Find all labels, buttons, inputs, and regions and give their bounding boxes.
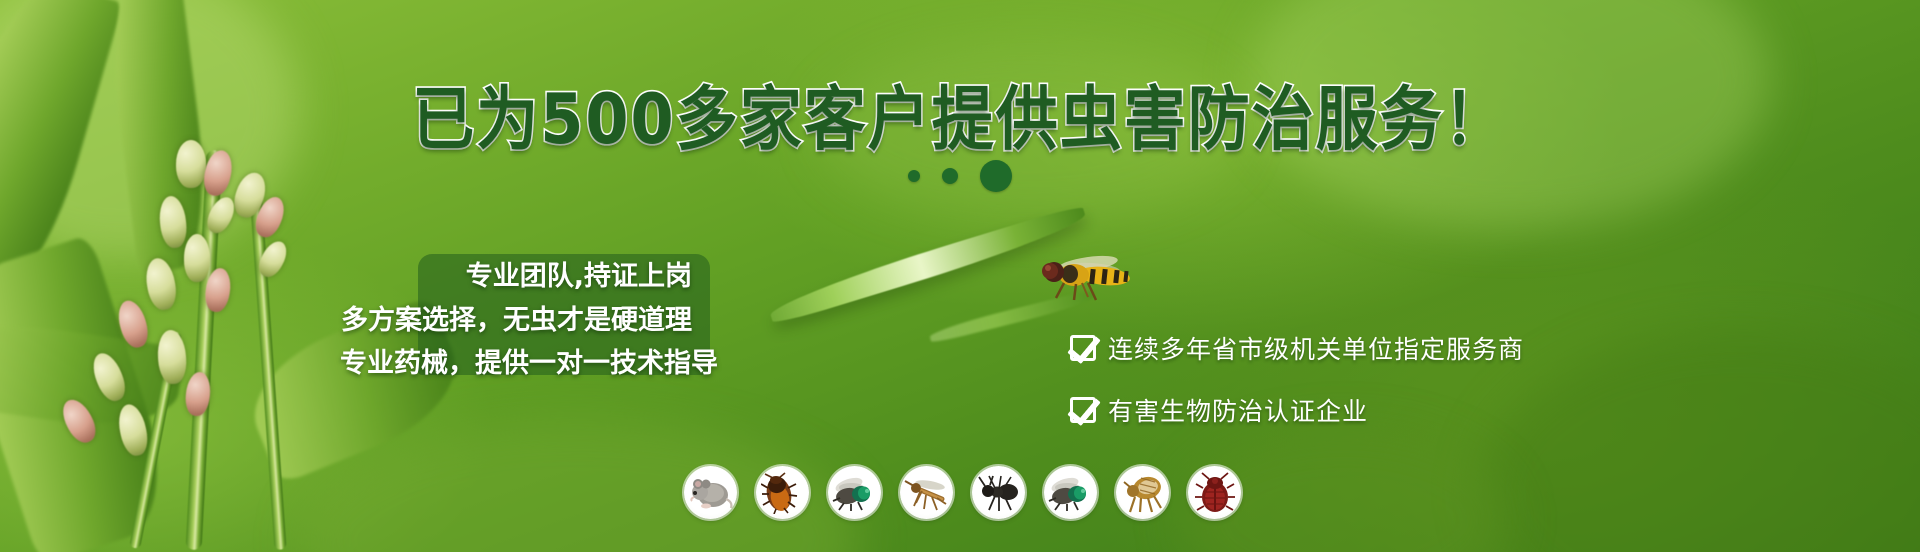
checklist-item-label: 有害生物防治认证企业	[1108, 392, 1368, 428]
slogan-line-1: 专业团队,持证上岗	[340, 258, 720, 296]
ant-icon[interactable]	[972, 466, 1025, 519]
check-box-icon	[1070, 397, 1096, 423]
banner-headline: 已为500多家客户提供虫害防治服务！	[0, 68, 1920, 158]
promo-banner: 已为500多家客户提供虫害防治服务！ 专业团队,持证上岗 多方案选择，无虫才是硬…	[0, 0, 1920, 552]
hoverfly-image	[1030, 250, 1150, 306]
check-box-icon	[1070, 335, 1096, 361]
slogan-line-2: 多方案选择，无虫才是硬道理	[340, 301, 720, 341]
feature-checklist: 连续多年省市级机关单位指定服务商 有害生物防治认证企业	[1070, 330, 1524, 454]
cockroach-icon[interactable]	[756, 466, 809, 519]
pest-icon-strip	[684, 466, 1241, 519]
foliage-blob	[1480, 330, 1920, 552]
dot-large-icon	[980, 160, 1012, 192]
flea-icon[interactable]	[1116, 466, 1169, 519]
headline-dot-row	[0, 160, 1920, 192]
slogan-list: 专业团队,持证上岗 多方案选择，无虫才是硬道理 专业药械，提供一对一技术指导	[340, 258, 720, 384]
banner-headline-text: 已为500多家客户提供虫害防治服务！	[412, 63, 1507, 164]
dot-medium-icon	[942, 168, 958, 184]
fly-icon[interactable]	[1044, 466, 1097, 519]
checklist-item: 连续多年省市级机关单位指定服务商	[1070, 330, 1524, 366]
checklist-item: 有害生物防治认证企业	[1070, 392, 1524, 428]
checklist-item-label: 连续多年省市级机关单位指定服务商	[1108, 330, 1524, 366]
slogan-line-3: 专业药械，提供一对一技术指导	[340, 344, 720, 384]
fly-icon[interactable]	[828, 466, 881, 519]
bedbug-icon[interactable]	[1188, 466, 1241, 519]
plant-bud	[184, 234, 210, 282]
mosquito-icon[interactable]	[900, 466, 953, 519]
mouse-icon[interactable]	[684, 466, 737, 519]
dot-small-icon	[908, 170, 920, 182]
